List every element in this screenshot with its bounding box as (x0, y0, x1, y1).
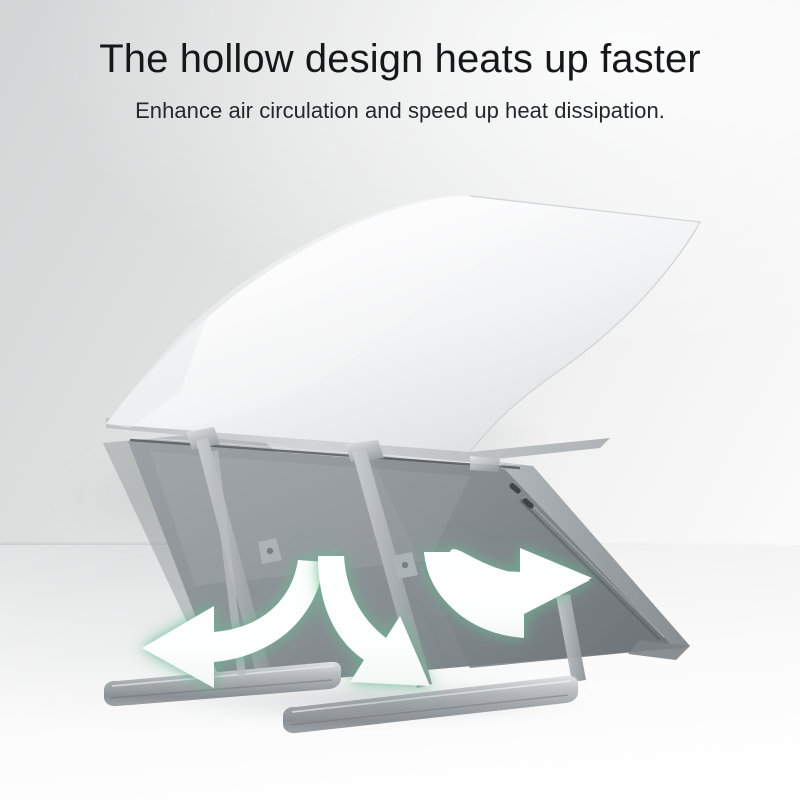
airflow-arrow-left (142, 560, 324, 688)
airflow-arrows (0, 0, 800, 800)
airflow-arrow-right (424, 548, 592, 638)
airflow-arrow-center (318, 556, 430, 686)
product-banner: The hollow design heats up faster Enhanc… (0, 0, 800, 800)
